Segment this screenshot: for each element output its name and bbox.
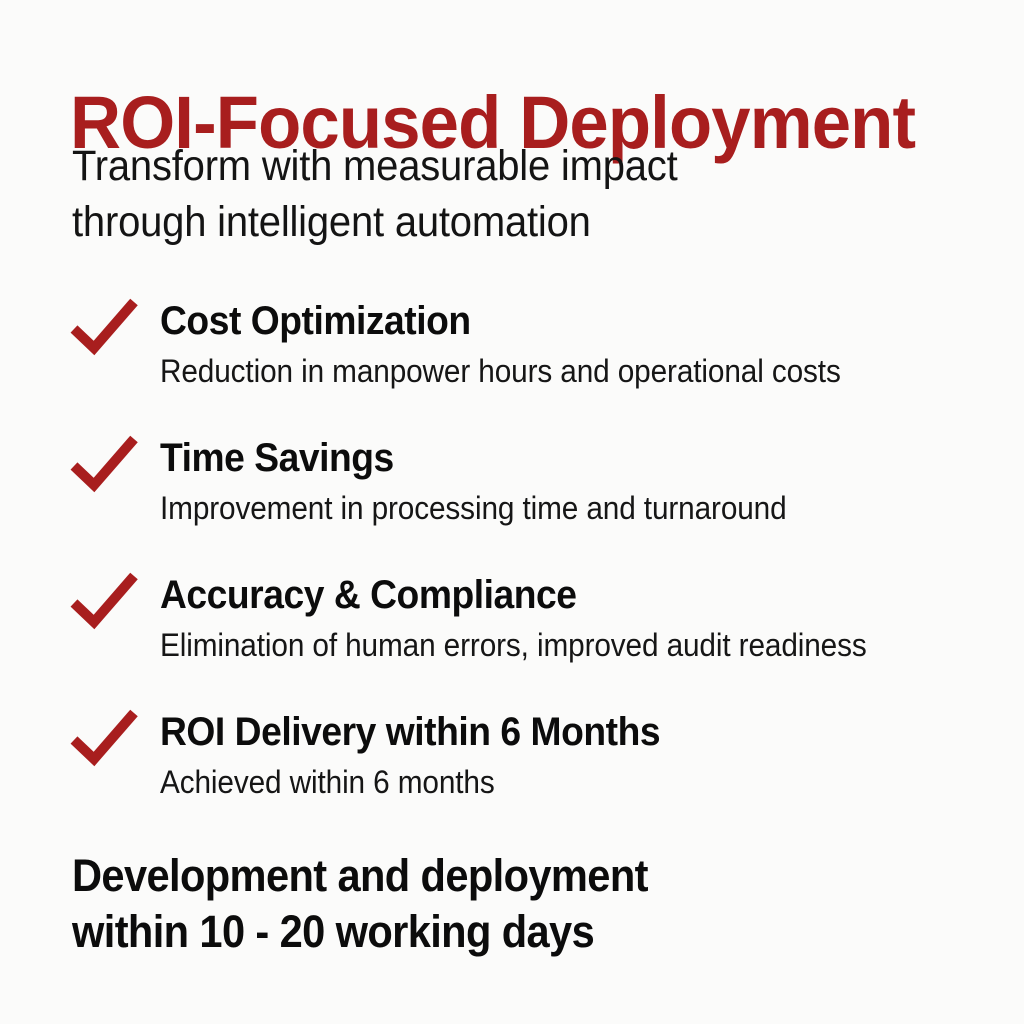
timeline-statement: Development and deployment within 10 - 2… — [72, 848, 886, 960]
feature-heading: ROI Delivery within 6 Months — [160, 703, 964, 753]
check-icon — [70, 298, 138, 356]
feature-description: Achieved within 6 months — [160, 753, 964, 801]
check-icon — [70, 435, 138, 493]
timeline-line-2: within 10 - 20 working days — [72, 904, 886, 960]
feature-heading: Cost Optimization — [160, 292, 964, 342]
list-item: Time Savings Improvement in processing t… — [0, 429, 1024, 566]
feature-list: Cost Optimization Reduction in manpower … — [0, 292, 1024, 840]
list-item: ROI Delivery within 6 Months Achieved wi… — [0, 703, 1024, 840]
feature-heading: Accuracy & Compliance — [160, 566, 964, 616]
check-icon — [70, 709, 138, 767]
feature-description: Elimination of human errors, improved au… — [160, 616, 964, 664]
subtitle-line-2: through intelligent automation — [72, 195, 872, 251]
list-item: Cost Optimization Reduction in manpower … — [0, 292, 1024, 429]
feature-description: Reduction in manpower hours and operatio… — [160, 342, 964, 390]
page-subtitle: Transform with measurable impact through… — [72, 139, 872, 251]
timeline-line-1: Development and deployment — [72, 848, 886, 904]
roi-deployment-slide: ROI-Focused Deployment Transform with me… — [0, 0, 1024, 1024]
check-icon — [70, 572, 138, 630]
feature-description: Improvement in processing time and turna… — [160, 479, 964, 527]
list-item: Accuracy & Compliance Elimination of hum… — [0, 566, 1024, 703]
feature-heading: Time Savings — [160, 429, 964, 479]
subtitle-line-1: Transform with measurable impact — [72, 139, 872, 195]
